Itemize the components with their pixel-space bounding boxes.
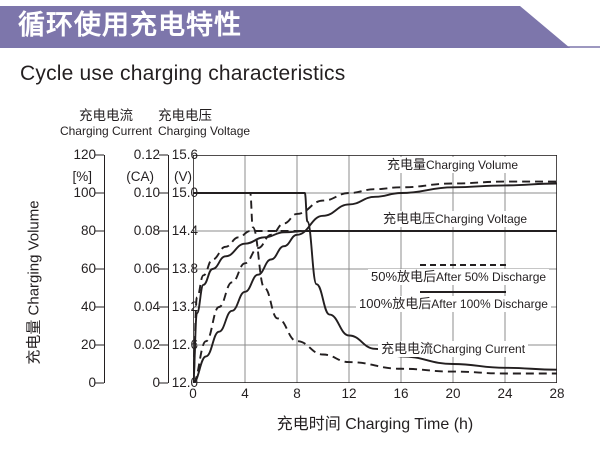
volume-tick-100: 100	[73, 186, 96, 200]
current-tick-006: 0.06	[134, 262, 160, 276]
x-tick-24: 24	[497, 386, 512, 401]
x-tick-8: 8	[293, 386, 301, 401]
current-tick-002: 0.02	[134, 338, 160, 352]
annotation-charging-voltage: 充电电压Charging Voltage	[380, 211, 530, 227]
axis-heading-voltage-cn: 充电电压	[158, 108, 288, 124]
current-tickmark-010	[159, 193, 168, 194]
x-tick-16: 16	[393, 386, 408, 401]
annotation-charging-volume: 充电量Charging Volume	[384, 157, 521, 173]
legend-discharge-100-en: After 100% Discharge	[431, 297, 548, 311]
current-tickmark-012	[159, 155, 168, 156]
current-tickmark-006	[159, 269, 168, 270]
page-title: 循环使用充电特性	[18, 9, 242, 41]
legend-discharge-50-cn: 50%放电后	[371, 269, 436, 284]
x-tick-20: 20	[445, 386, 460, 401]
annotation-charging-volume-cn: 充电量	[387, 157, 426, 172]
legend-item-discharge-50: 50%放电后After 50% Discharge	[368, 269, 549, 285]
volume-tickmark-0	[95, 383, 104, 384]
volume-unit: [%]	[72, 170, 92, 184]
x-tick-0: 0	[189, 386, 197, 401]
axis-heading-current-en: Charging Current	[52, 124, 160, 138]
volume-tickmark-100	[95, 193, 104, 194]
volume-tick-20: 20	[81, 338, 96, 352]
axis-heading-current: 充电电流 Charging Current	[52, 108, 160, 138]
volume-tick-40: 40	[81, 300, 96, 314]
legend-swatch-discharge-50	[420, 264, 506, 266]
legend-swatch-discharge-100	[420, 291, 506, 293]
legend-discharge-50-en: After 50% Discharge	[436, 270, 546, 284]
page-subtitle: Cycle use charging characteristics	[20, 62, 345, 86]
x-tick-12: 12	[341, 386, 356, 401]
y-axis-label: 充电量 Charging Volume	[23, 188, 44, 378]
axis-heading-current-cn: 充电电流	[52, 108, 160, 124]
annotation-charging-current-en: Charging Current	[433, 342, 525, 356]
current-tick-012: 0.12	[134, 148, 160, 162]
volume-tickmark-80	[95, 231, 104, 232]
current-tick-008: 0.08	[134, 224, 160, 238]
x-axis-ticks: 0481216202428	[193, 386, 557, 404]
volume-tick-120: 120	[73, 148, 96, 162]
current-tickmark-002	[159, 345, 168, 346]
current-tick-010: 0.10	[134, 186, 160, 200]
current-axis-spine	[168, 155, 169, 383]
current-tickmark-0	[159, 383, 168, 384]
volume-tick-60: 60	[81, 262, 96, 276]
axis-heading-voltage-en: Charging Voltage	[158, 124, 288, 138]
annotation-charging-current-cn: 充电电流	[381, 341, 433, 356]
current-unit: (CA)	[126, 170, 154, 184]
annotation-charging-current: 充电电流Charging Current	[378, 341, 528, 357]
legend-discharge-100-cn: 100%放电后	[359, 296, 431, 311]
annotation-charging-voltage-cn: 充电电压	[383, 211, 435, 226]
volume-tick-80: 80	[81, 224, 96, 238]
volume-tickmark-40	[95, 307, 104, 308]
legend-item-discharge-100: 100%放电后After 100% Discharge	[356, 296, 551, 312]
volume-tickmark-120	[95, 155, 104, 156]
current-tick-004: 0.04	[134, 300, 160, 314]
current-tickmark-008	[159, 231, 168, 232]
volume-axis-spine	[104, 155, 105, 383]
current-tickmark-004	[159, 307, 168, 308]
volume-tickmark-60	[95, 269, 104, 270]
x-axis-title: 充电时间 Charging Time (h)	[193, 410, 557, 434]
volume-tickmark-20	[95, 345, 104, 346]
annotation-charging-volume-en: Charging Volume	[426, 158, 518, 172]
axis-heading-voltage: 充电电压 Charging Voltage	[158, 108, 288, 138]
x-tick-28: 28	[549, 386, 564, 401]
annotation-charging-voltage-en: Charging Voltage	[435, 212, 527, 226]
voltage-unit: (V)	[174, 170, 192, 184]
x-tick-4: 4	[241, 386, 249, 401]
